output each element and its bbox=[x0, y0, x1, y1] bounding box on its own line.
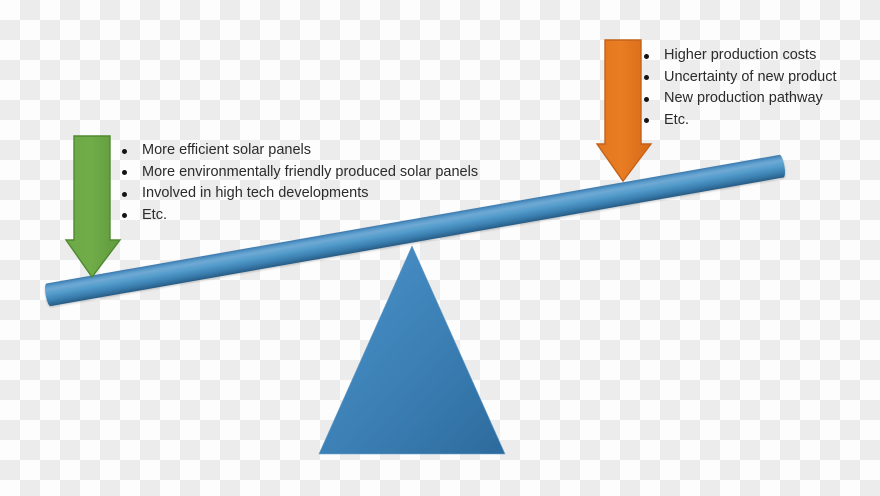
list-item: New production pathway bbox=[642, 88, 836, 110]
list-item: More environmentally friendly produced s… bbox=[120, 162, 478, 184]
bullet-point-icon bbox=[644, 97, 649, 102]
bullet-point-icon bbox=[122, 192, 127, 197]
list-item: More efficient solar panels bbox=[120, 140, 478, 162]
list-item-label: Involved in high tech developments bbox=[142, 185, 369, 201]
list-item-label: New production pathway bbox=[664, 90, 823, 106]
bullet-point-icon bbox=[122, 170, 127, 175]
list-item: Etc. bbox=[120, 205, 478, 227]
list-item: Involved in high tech developments bbox=[120, 183, 478, 205]
bullet-point-icon bbox=[122, 149, 127, 154]
bullet-point-icon bbox=[644, 118, 649, 123]
list-item-label: Uncertainty of new product bbox=[664, 69, 836, 85]
down-arrow-green-icon bbox=[64, 134, 122, 280]
list-item: Uncertainty of new product bbox=[642, 67, 836, 89]
list-item-label: More efficient solar panels bbox=[142, 142, 311, 158]
benefits-list: More efficient solar panels More environ… bbox=[120, 140, 478, 226]
list-item: Etc. bbox=[642, 110, 836, 132]
bullet-point-icon bbox=[644, 75, 649, 80]
list-item: Higher production costs bbox=[642, 45, 836, 67]
list-item-label: Etc. bbox=[142, 207, 167, 223]
list-item-label: More environmentally friendly produced s… bbox=[142, 164, 478, 180]
diagram-canvas: More efficient solar panels More environ… bbox=[0, 0, 880, 496]
bullet-point-icon bbox=[122, 213, 127, 218]
drawbacks-list: Higher production costs Uncertainty of n… bbox=[642, 45, 836, 131]
list-item-label: Higher production costs bbox=[664, 47, 816, 63]
fulcrum-triangle bbox=[316, 242, 508, 456]
bullet-point-icon bbox=[644, 54, 649, 59]
list-item-label: Etc. bbox=[664, 112, 689, 128]
